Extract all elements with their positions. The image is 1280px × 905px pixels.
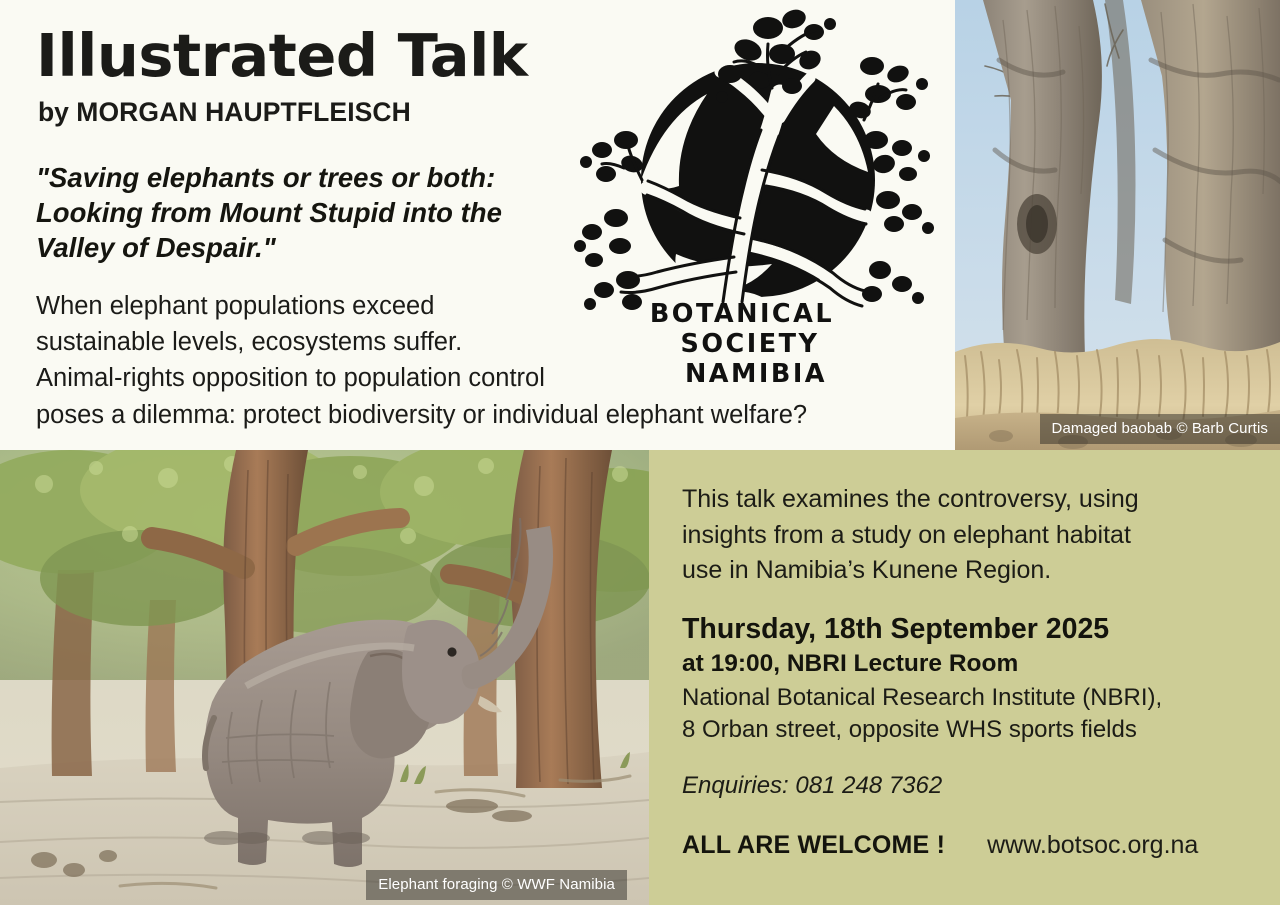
- event-date: Thursday, 18th September 2025: [682, 614, 1257, 645]
- event-address: National Botanical Research Institute (N…: [682, 682, 1257, 746]
- byline-prefix: by: [38, 97, 76, 127]
- talk-title-line: "Saving elephants or trees or both:: [36, 160, 636, 195]
- event-intro-line: use in Namibia’s Kunene Region.: [682, 553, 1257, 589]
- poster-root: Illustrated Talk by MORGAN HAUPTFLEISCH …: [0, 0, 1280, 905]
- elephant-photo: Elephant foraging © WWF Namibia: [0, 450, 649, 905]
- event-intro-line: This talk examines the controversy, usin…: [682, 482, 1257, 518]
- elephant-photo-caption: Elephant foraging © WWF Namibia: [366, 870, 627, 900]
- talk-title: "Saving elephants or trees or both: Look…: [36, 160, 636, 266]
- logo-line-1: BOTANICAL: [650, 299, 834, 329]
- talk-title-line: Valley of Despair.": [36, 230, 636, 265]
- event-details-panel: This talk examines the controversy, usin…: [649, 450, 1280, 905]
- logo-line-3: NAMIBIA: [685, 359, 827, 389]
- event-intro-line: insights from a study on elephant habita…: [682, 518, 1257, 554]
- event-time-venue: at 19:00, NBRI Lecture Room: [682, 650, 1257, 677]
- website-link[interactable]: www.botsoc.org.na: [987, 831, 1198, 860]
- baobab-photo: Damaged baobab © Barb Curtis: [955, 0, 1280, 450]
- tree-emblem-icon: BOTANICAL SOCIETY NAMIBIA: [572, 2, 940, 402]
- event-address-line: 8 Orban street, opposite WHS sports fiel…: [682, 714, 1257, 746]
- baobab-photo-caption: Damaged baobab © Barb Curtis: [1040, 414, 1280, 444]
- event-address-line: National Botanical Research Institute (N…: [682, 682, 1257, 714]
- byline: by MORGAN HAUPTFLEISCH: [38, 99, 411, 126]
- event-intro: This talk examines the controversy, usin…: [682, 482, 1257, 589]
- talk-title-line: Looking from Mount Stupid into the: [36, 195, 636, 230]
- logo-line-2: SOCIETY: [680, 329, 819, 359]
- poster-footer: ALL ARE WELCOME ! www.botsoc.org.na: [682, 831, 1257, 860]
- speaker-name: MORGAN HAUPTFLEISCH: [76, 97, 411, 127]
- welcome-message: ALL ARE WELCOME !: [682, 831, 945, 860]
- enquiries-phone[interactable]: Enquiries: 081 248 7362: [682, 773, 1257, 799]
- page-title: Illustrated Talk: [36, 26, 528, 85]
- baobab-photo-image: [955, 0, 1280, 450]
- botanical-society-logo: BOTANICAL SOCIETY NAMIBIA: [572, 2, 940, 402]
- abstract-line: poses a dilemma: protect biodiversity or…: [36, 397, 966, 433]
- elephant-photo-image: [0, 450, 649, 905]
